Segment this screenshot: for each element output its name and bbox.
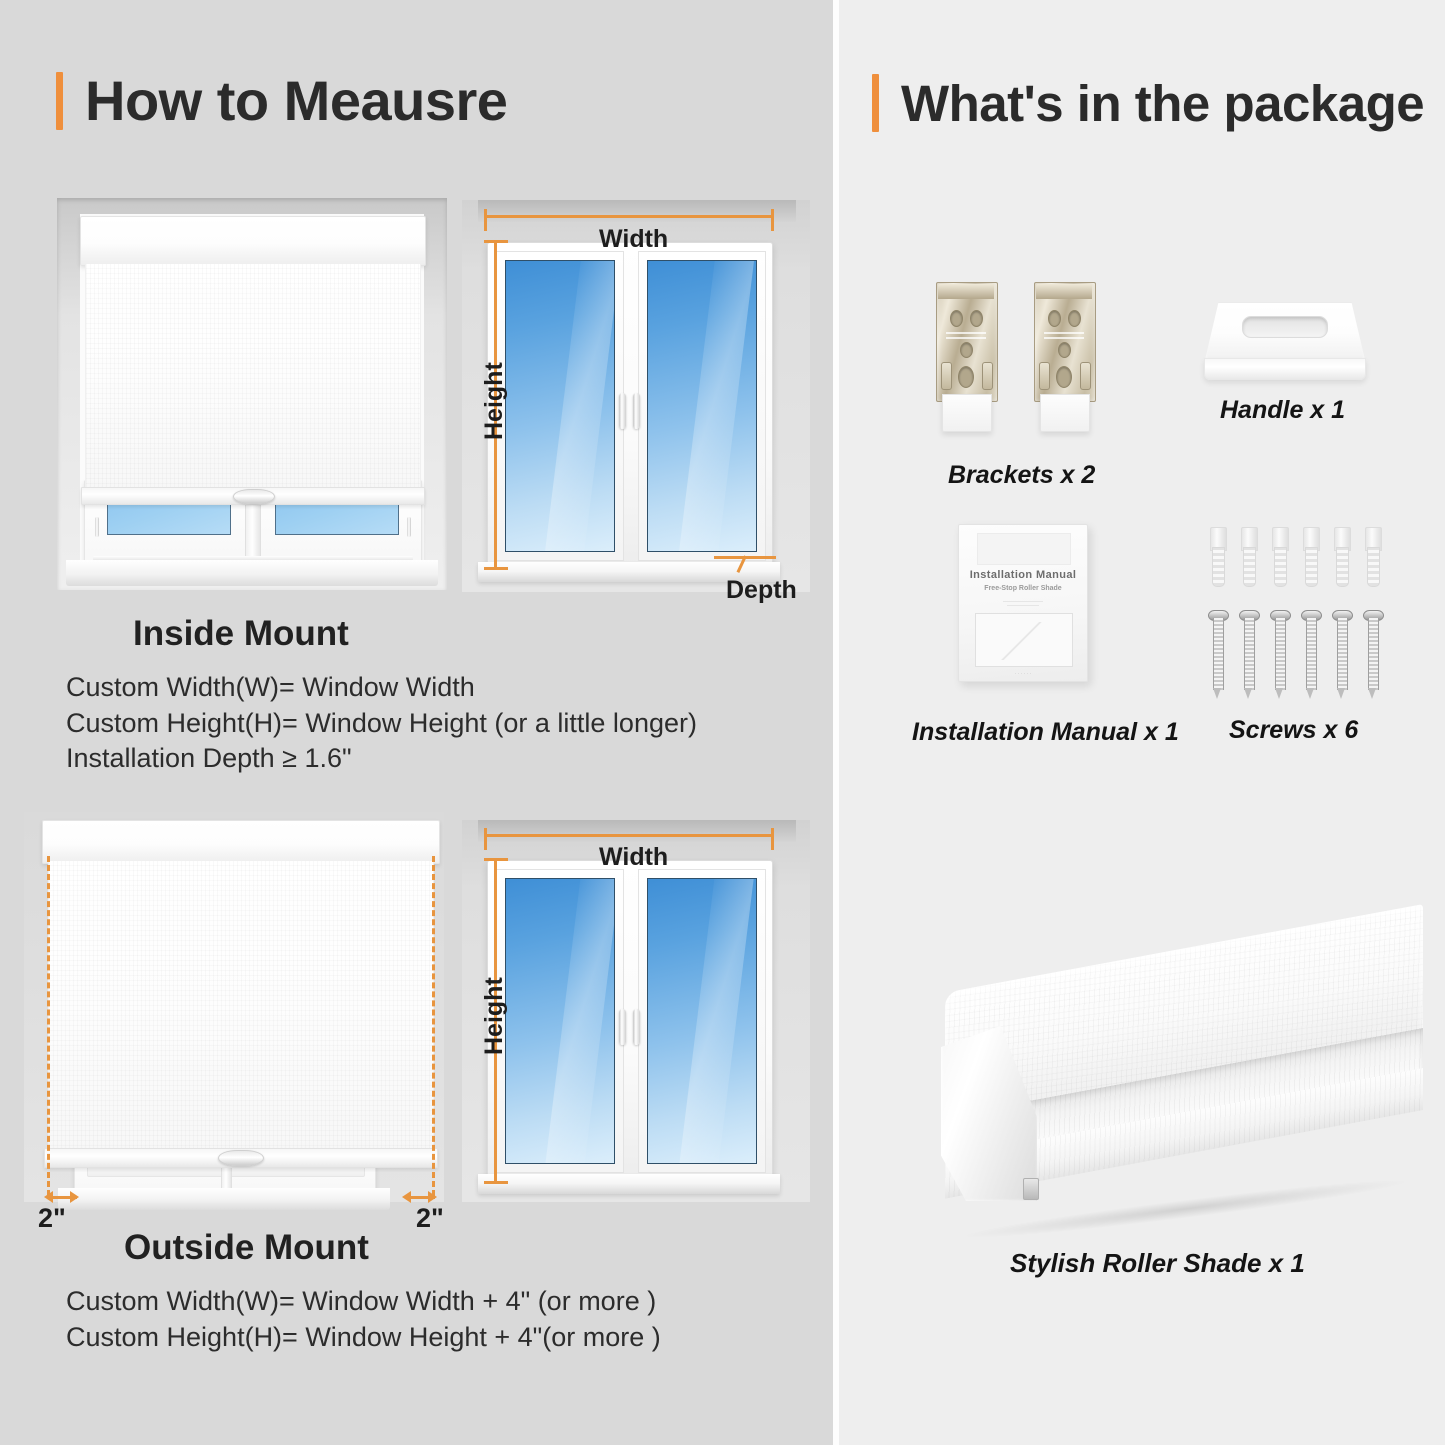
height-marker-cap-bottom [484, 567, 508, 570]
overhang-arrow-left-head [44, 1191, 53, 1203]
shade-cassette [80, 216, 426, 266]
outside-mount-line-1: Custom Width(W)= Window Width + 4" (or m… [66, 1284, 661, 1320]
screw-icon [1332, 610, 1351, 698]
handle-icon [1204, 302, 1364, 380]
overhang-arrow-left-head2 [70, 1191, 79, 1203]
diagram-handle-left-icon [619, 393, 626, 429]
diagram-reveal-top [478, 200, 796, 222]
diagram-sash-right [638, 251, 766, 561]
wall-anchor-icon [1333, 527, 1350, 585]
inside-mount-line-1: Custom Width(W)= Window Width [66, 670, 697, 706]
depth-label: Depth [726, 576, 797, 605]
diagram-window-frame [487, 242, 773, 568]
screw-icon [1208, 610, 1227, 698]
diagram-handle-right-icon [633, 393, 640, 429]
width2-label: Width [599, 843, 668, 872]
screws-label: Screws x 6 [1229, 716, 1358, 745]
inside-mount-title: Inside Mount [133, 614, 349, 654]
diagram-glass-right [647, 260, 757, 552]
screw-icon [1239, 610, 1258, 698]
outside-shade-fabric [48, 861, 434, 1151]
outside-mount-lines: Custom Width(W)= Window Width + 4" (or m… [66, 1284, 661, 1355]
width2-marker-cap-right [771, 828, 774, 850]
overhang-label-right: 2" [416, 1203, 444, 1234]
diagram-glass-left [505, 260, 615, 552]
diagram2-sash-right [638, 869, 766, 1173]
left-heading-text: How to Meausre [85, 73, 507, 129]
outside-mount-title: Outside Mount [124, 1228, 369, 1268]
outside-window-sill [58, 1188, 390, 1210]
width2-marker-line [484, 834, 774, 837]
width-marker-cap-right [771, 209, 774, 231]
wall-anchor-icon [1240, 527, 1257, 585]
height-label: Height [480, 362, 509, 440]
manual-footer: · · · · · · [959, 671, 1087, 677]
overhang-label-left: 2" [38, 1203, 66, 1234]
diagram2-handle-right-icon [633, 1009, 640, 1045]
bracket-icon [936, 282, 996, 432]
bracket-icon [1034, 282, 1094, 432]
overhang-guide-right [432, 856, 435, 1196]
shade-fabric [85, 264, 421, 489]
screw-icon [1301, 610, 1320, 698]
wall-anchor-icon [1271, 527, 1288, 585]
screw-icon [1363, 610, 1382, 698]
overhang-arrow-right-head [402, 1191, 411, 1203]
overhang-arrow-right-head2 [428, 1191, 437, 1203]
diagram2-glass-right [647, 878, 757, 1164]
diagram2-glass-left [505, 878, 615, 1164]
overhang-guide-left [47, 856, 50, 1196]
brackets-label: Brackets x 2 [948, 461, 1095, 490]
width-marker-line [484, 215, 774, 218]
shade-pull-handle-icon [233, 489, 275, 504]
wall-anchor-icon [1209, 527, 1226, 585]
width2-marker-cap-left [484, 828, 487, 850]
diagram2-reveal-top [478, 820, 796, 842]
height-marker-cap-top [484, 240, 508, 243]
roller-shade-icon [905, 900, 1425, 1230]
right-heading-text: What's in the package [901, 78, 1424, 129]
window-handle-left-icon [95, 517, 99, 537]
manual-rule-2 [1007, 605, 1039, 606]
screw-icon [1270, 610, 1289, 698]
infographic-page: How to Meausre What's in the package [0, 0, 1445, 1445]
inside-mount-line-3: Installation Depth ≥ 1.6" [66, 741, 697, 777]
manual-cover-band [977, 533, 1071, 565]
right-panel-heading: What's in the package [872, 74, 1424, 132]
height2-label: Height [480, 977, 509, 1055]
inside-mount-line-2: Custom Height(H)= Window Height (or a li… [66, 706, 697, 742]
manual-rule-1 [1003, 601, 1043, 602]
height2-marker-cap-top [484, 858, 508, 861]
inside-mount-lines: Custom Width(W)= Window Width Custom Hei… [66, 670, 697, 777]
handle-label: Handle x 1 [1220, 396, 1345, 425]
width-marker-cap-left [484, 209, 487, 231]
accent-bar-icon [872, 74, 879, 132]
window-handle-right-icon [407, 517, 411, 537]
manual-icon: Installation Manual Free-Stop Roller Sha… [958, 524, 1088, 682]
wall-anchor-icon [1302, 527, 1319, 585]
accent-bar-icon [56, 72, 63, 130]
wall-anchor-icon [1364, 527, 1381, 585]
outside-mount-line-2: Custom Height(H)= Window Height + 4"(or … [66, 1320, 661, 1356]
height2-marker-cap-bottom [484, 1181, 508, 1184]
manual-label: Installation Manual x 1 [912, 718, 1179, 747]
outside-shade-cassette [42, 820, 440, 864]
diagram2-sash-left [496, 869, 624, 1173]
manual-figure-box [975, 613, 1073, 667]
diagram2-handle-left-icon [619, 1009, 626, 1045]
roller-shade-label: Stylish Roller Shade x 1 [1010, 1248, 1305, 1279]
window-sill-small [66, 560, 438, 586]
outside-shade-pull-handle-icon [218, 1150, 264, 1166]
manual-cover-subtitle: Free-Stop Roller Shade [959, 585, 1087, 592]
diagram2-window-frame [487, 860, 773, 1180]
diagram-sash-left [496, 251, 624, 561]
diagram2-window-sill [478, 1174, 780, 1194]
width-label: Width [599, 225, 668, 254]
left-panel-heading: How to Meausre [56, 72, 507, 130]
manual-cover-title: Installation Manual [959, 569, 1087, 581]
